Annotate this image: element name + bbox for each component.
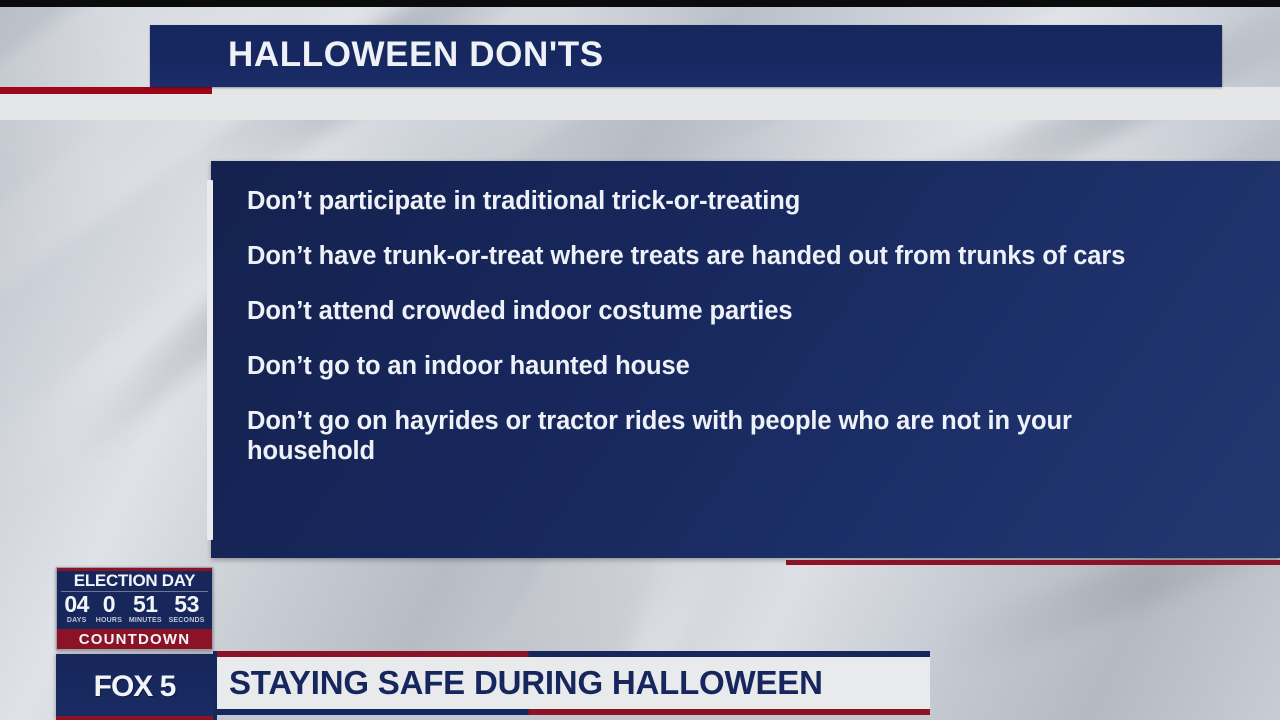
countdown-hours-label: HOURS: [96, 617, 122, 624]
letterbox-bar: [0, 0, 1280, 7]
list-item: Don’t participate in traditional trick-o…: [247, 186, 1187, 216]
lower-third-left-edge: [213, 651, 217, 720]
red-accent-rule-right: [786, 560, 1280, 565]
countdown-days-value: 04: [64, 593, 89, 616]
countdown-unit-days: 04 DAYS: [64, 593, 89, 624]
red-accent-rule-left: [0, 87, 212, 94]
story-title: STAYING SAFE DURING HALLOWEEN: [213, 664, 823, 702]
countdown-unit-seconds: 53 SECONDS: [169, 593, 205, 624]
countdown-hours-value: 0: [96, 593, 122, 616]
list-item: Don’t go to an indoor haunted house: [247, 351, 1187, 381]
station-logo: FOX 5: [56, 654, 213, 720]
list-item: Don’t have trunk-or-treat where treats a…: [247, 241, 1187, 271]
election-countdown-widget: ELECTION DAY 04 DAYS 0 HOURS 51 MINUTES …: [56, 567, 213, 650]
broadcast-screen: HALLOWEEN DON'TS CENTERS FOR DISEASE CON…: [0, 0, 1280, 720]
countdown-unit-minutes: 51 MINUTES: [129, 593, 162, 624]
countdown-days-label: DAYS: [64, 617, 89, 624]
lower-third-body: STAYING SAFE DURING HALLOWEEN: [213, 657, 930, 709]
lower-third-foot: [213, 715, 930, 720]
countdown-minutes-label: MINUTES: [129, 617, 162, 624]
headline-banner: HALLOWEEN DON'TS: [150, 25, 1222, 87]
station-logo-text: FOX 5: [94, 670, 176, 704]
countdown-minutes-value: 51: [129, 593, 162, 616]
countdown-seconds-value: 53: [169, 593, 205, 616]
countdown-seconds-label: SECONDS: [169, 617, 205, 624]
countdown-unit-hours: 0 HOURS: [96, 593, 122, 624]
lower-third-banner: STAYING SAFE DURING HALLOWEEN: [213, 651, 930, 720]
list-item: Don’t attend crowded indoor costume part…: [247, 296, 1187, 326]
countdown-values: 04 DAYS 0 HOURS 51 MINUTES 53 SECONDS: [57, 593, 212, 629]
countdown-footer: COUNTDOWN: [57, 629, 212, 649]
page-title: HALLOWEEN DON'TS: [228, 35, 604, 75]
station-logo-underline: [56, 716, 213, 720]
list-item: Don’t go on hayrides or tractor rides wi…: [247, 406, 1187, 466]
panel-scroll-indicator[interactable]: [207, 180, 213, 540]
countdown-header: ELECTION DAY: [57, 571, 212, 591]
guidance-list: Don’t participate in traditional trick-o…: [247, 186, 1187, 466]
